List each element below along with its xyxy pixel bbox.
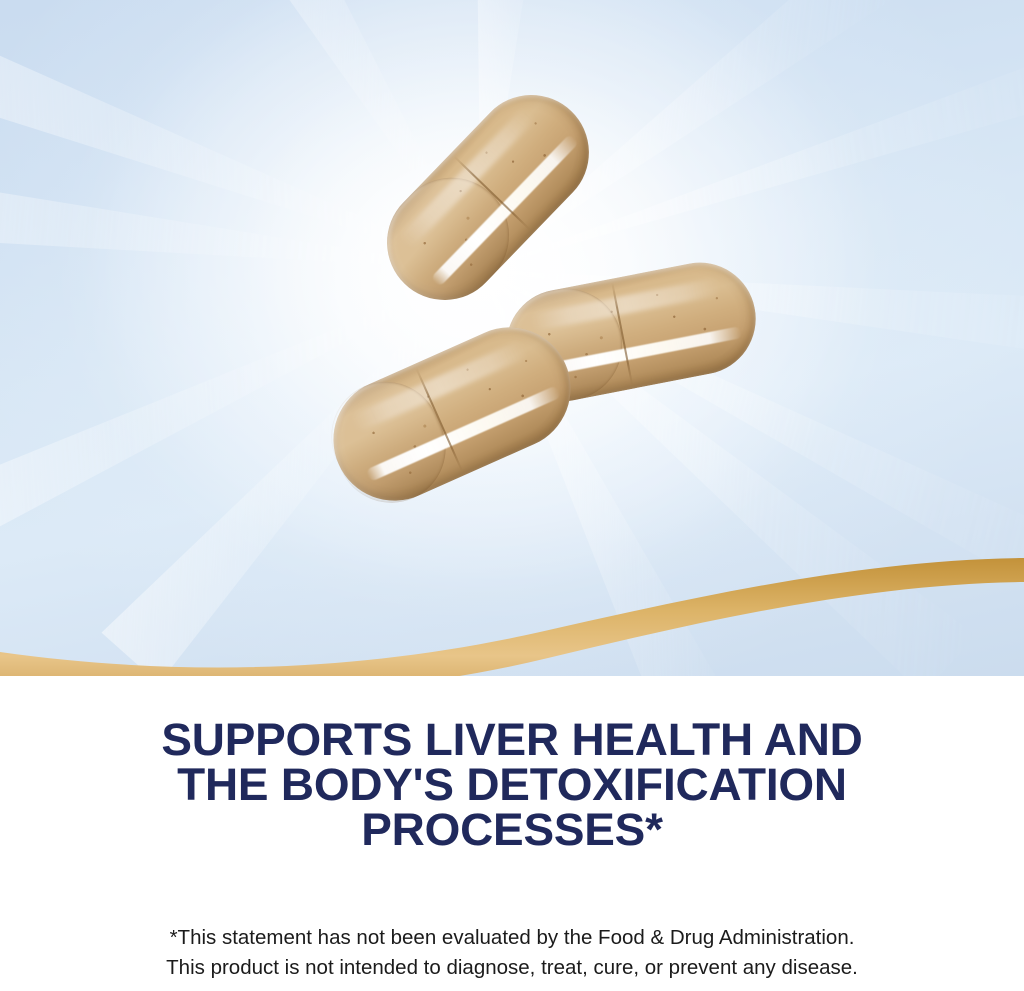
fda-disclaimer: *This statement has not been evaluated b… <box>0 923 1024 983</box>
hero-image <box>0 0 1024 676</box>
page-title: SUPPORTS LIVER HEALTH AND THE BODY'S DET… <box>0 717 1024 852</box>
product-hero-panel: SUPPORTS LIVER HEALTH AND THE BODY'S DET… <box>0 0 1024 991</box>
copy-block: SUPPORTS LIVER HEALTH AND THE BODY'S DET… <box>0 676 1024 991</box>
